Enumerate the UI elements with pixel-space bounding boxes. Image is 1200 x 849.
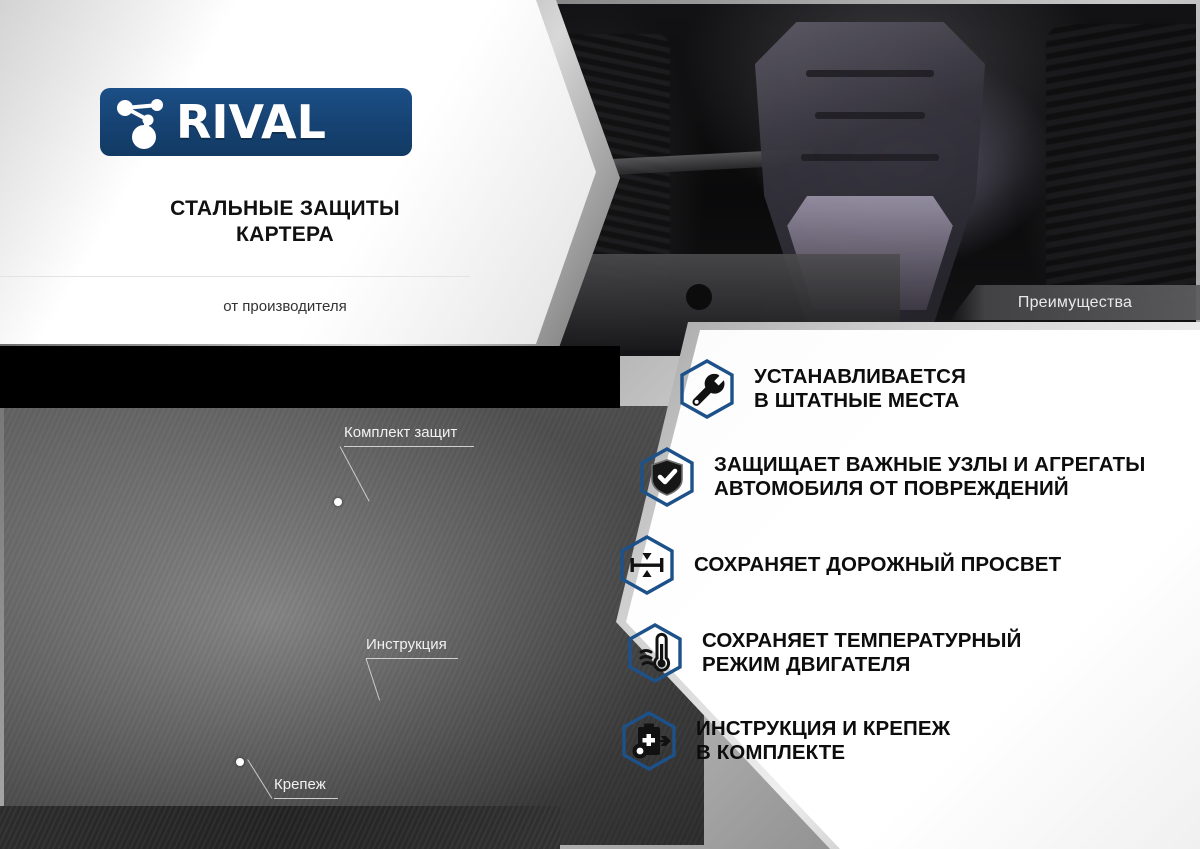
advantage-text-kit: ИНСТРУКЦИЯ И КРЕПЕЖ В КОМПЛЕКТЕ <box>696 717 950 765</box>
advantage-item-kit: ИНСТРУКЦИЯ И КРЕПЕЖ В КОМПЛЕКТЕ <box>616 708 1200 774</box>
page-title-line1: СТАЛЬНЫЕ ЗАЩИТЫ <box>60 196 510 222</box>
advantage-line1: ИНСТРУКЦИЯ И КРЕПЕЖ <box>696 717 950 741</box>
callout-kit: Комплект защит <box>344 424 457 441</box>
advantage-line2: РЕЖИМ ДВИГАТЕЛЯ <box>702 653 1021 677</box>
advantage-line1: СОХРАНЯЕТ ТЕМПЕРАТУРНЫЙ <box>702 629 1021 653</box>
advantage-line2: В ШТАТНЫЕ МЕСТА <box>754 389 966 413</box>
advantage-line1: УСТАНАВЛИВАЕТСЯ <box>754 365 966 389</box>
advantage-item-clearance: СОХРАНЯЕТ ДОРОЖНЫЙ ПРОСВЕТ <box>614 532 1200 598</box>
callout-hardware-label: Крепеж <box>274 776 326 793</box>
wheel-right <box>1046 24 1196 304</box>
advantages-tag-label: Преимущества <box>1018 294 1132 312</box>
thermometer-icon <box>622 620 688 686</box>
rival-logo: RIVAL <box>100 88 412 156</box>
molecule-icon <box>112 94 174 150</box>
page-title-line2: КАРТЕРА <box>60 222 510 248</box>
bottom-strip <box>0 806 560 849</box>
callout-manual-label: Инструкция <box>366 636 447 653</box>
rival-logo-text: RIVAL <box>176 99 326 145</box>
ground-clearance-icon <box>614 532 680 598</box>
shield-check-icon <box>634 444 700 510</box>
callout-manual: Инструкция <box>366 636 447 653</box>
advantage-line1: СОХРАНЯЕТ ДОРОЖНЫЙ ПРОСВЕТ <box>694 553 1061 577</box>
advantage-line2: В КОМПЛЕКТЕ <box>696 741 950 765</box>
header-panel <box>0 0 596 346</box>
page-title: СТАЛЬНЫЕ ЗАЩИТЫ КАРТЕРА <box>60 196 510 247</box>
advantage-item-install: УСТАНАВЛИВАЕТСЯ В ШТАТНЫЕ МЕСТА <box>674 356 1200 422</box>
page-subtitle: от производителя <box>60 298 510 315</box>
promo-banner: Преимущества <box>0 0 1200 849</box>
advantage-line2: АВТОМОБИЛЯ ОТ ПОВРЕЖДЕНИЙ <box>714 477 1145 501</box>
wrench-icon <box>674 356 740 422</box>
advantage-item-protect: ЗАЩИЩАЕТ ВАЖНЫЕ УЗЛЫ И АГРЕГАТЫ АВТОМОБИ… <box>634 444 1200 510</box>
callout-kit-label: Комплект защит <box>344 424 457 441</box>
advantage-text-install: УСТАНАВЛИВАЕТСЯ В ШТАТНЫЕ МЕСТА <box>754 365 966 413</box>
bottom-strip-texture <box>0 806 560 849</box>
advantage-line1: ЗАЩИЩАЕТ ВАЖНЫЕ УЗЛЫ И АГРЕГАТЫ <box>714 453 1145 477</box>
callout-hardware: Крепеж <box>274 776 326 793</box>
header-black-band <box>0 346 620 408</box>
advantage-item-temperature: СОХРАНЯЕТ ТЕМПЕРАТУРНЫЙ РЕЖИМ ДВИГАТЕЛЯ <box>622 620 1200 686</box>
advantage-text-clearance: СОХРАНЯЕТ ДОРОЖНЫЙ ПРОСВЕТ <box>694 553 1061 577</box>
manual-hardware-icon <box>616 708 682 774</box>
advantages-tag: Преимущества <box>950 285 1200 320</box>
advantages-list: УСТАНАВЛИВАЕТСЯ В ШТАТНЫЕ МЕСТА ЗАЩИЩАЕТ… <box>616 356 1200 796</box>
advantage-text-temperature: СОХРАНЯЕТ ТЕМПЕРАТУРНЫЙ РЕЖИМ ДВИГАТЕЛЯ <box>702 629 1021 677</box>
header-divider <box>0 276 470 277</box>
advantage-text-protect: ЗАЩИЩАЕТ ВАЖНЫЕ УЗЛЫ И АГРЕГАТЫ АВТОМОБИ… <box>714 453 1145 501</box>
